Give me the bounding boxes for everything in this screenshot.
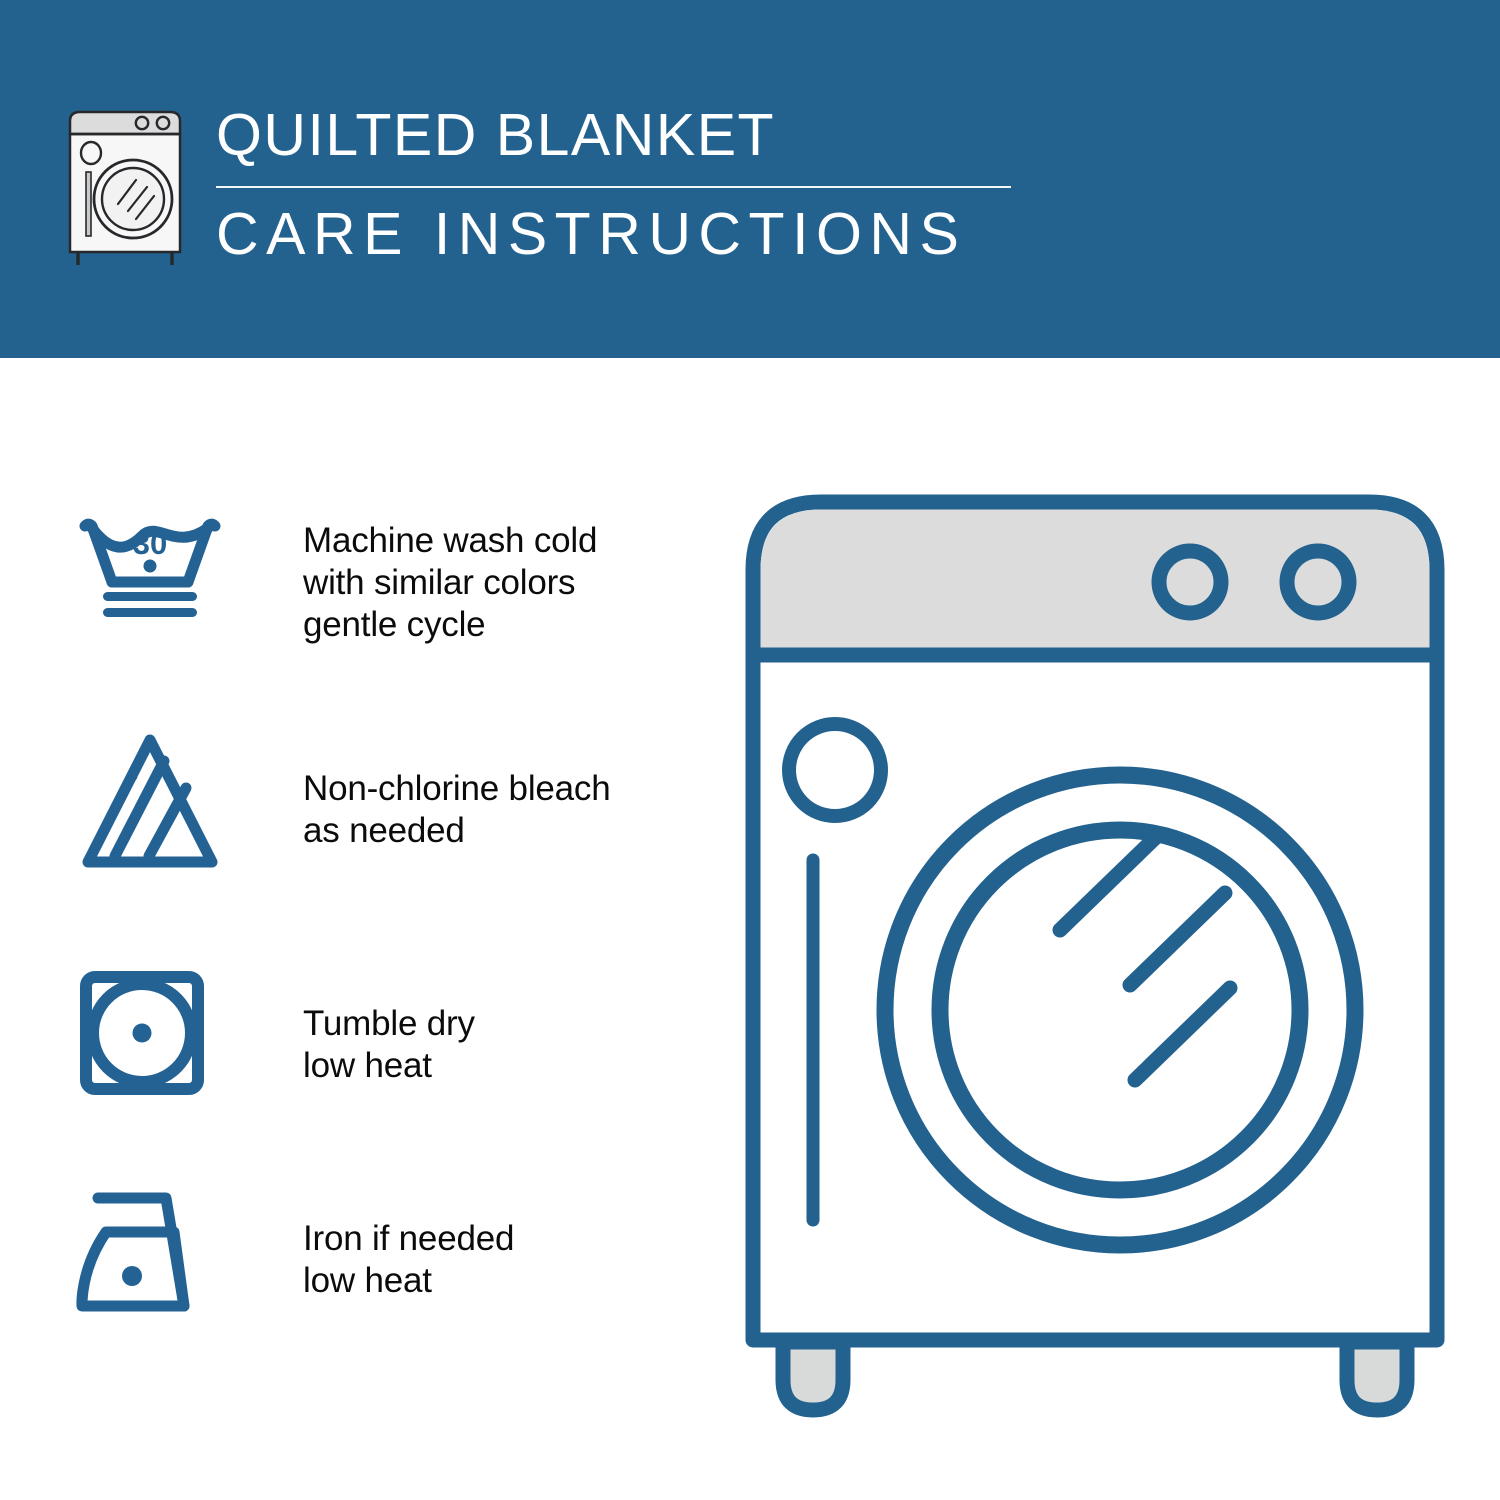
title-divider <box>216 186 1011 188</box>
tumble-dry-low-heat-icon <box>70 963 230 1113</box>
care-label-wash: Machine wash cold with similar colors ge… <box>303 520 597 646</box>
header-titles: QUILTED BLANKET CARE INSTRUCTIONS <box>216 98 1016 268</box>
care-instruction-list: 30 Machine wash cold with similar colors… <box>0 358 720 1500</box>
washer-leg-right <box>1347 1342 1407 1410</box>
washer-control-panel <box>761 510 1430 656</box>
iron-low-heat-icon <box>70 1178 230 1328</box>
care-label-line: low heat <box>303 1045 475 1087</box>
wash-tub-30-gentle-icon: 30 <box>70 508 230 658</box>
care-instructions-page: QUILTED BLANKET CARE INSTRUCTIONS <box>0 0 1500 1500</box>
care-label-line: as needed <box>303 810 611 852</box>
care-label-line: low heat <box>303 1260 514 1302</box>
care-label-iron: Iron if needed low heat <box>303 1218 514 1302</box>
wash-temperature-value: 30 <box>133 526 167 561</box>
non-chlorine-bleach-triangle-icon <box>70 728 230 878</box>
care-label-tumble-dry: Tumble dry low heat <box>303 1003 475 1087</box>
header-banner: QUILTED BLANKET CARE INSTRUCTIONS <box>0 0 1500 358</box>
page-subtitle: CARE INSTRUCTIONS <box>216 200 1016 268</box>
care-label-line: gentle cycle <box>303 604 597 646</box>
care-label-bleach: Non-chlorine bleach as needed <box>303 768 611 852</box>
washer-leg-left <box>783 1342 843 1410</box>
washing-machine-icon <box>62 107 192 267</box>
front-load-washing-machine-illustration <box>735 480 1455 1420</box>
care-label-line: Non-chlorine bleach <box>303 768 611 810</box>
care-label-line: Tumble dry <box>303 1003 475 1045</box>
care-label-line: Machine wash cold <box>303 520 597 562</box>
care-label-line: with similar colors <box>303 562 597 604</box>
care-label-line: Iron if needed <box>303 1218 514 1260</box>
page-title: QUILTED BLANKET <box>216 98 1016 172</box>
